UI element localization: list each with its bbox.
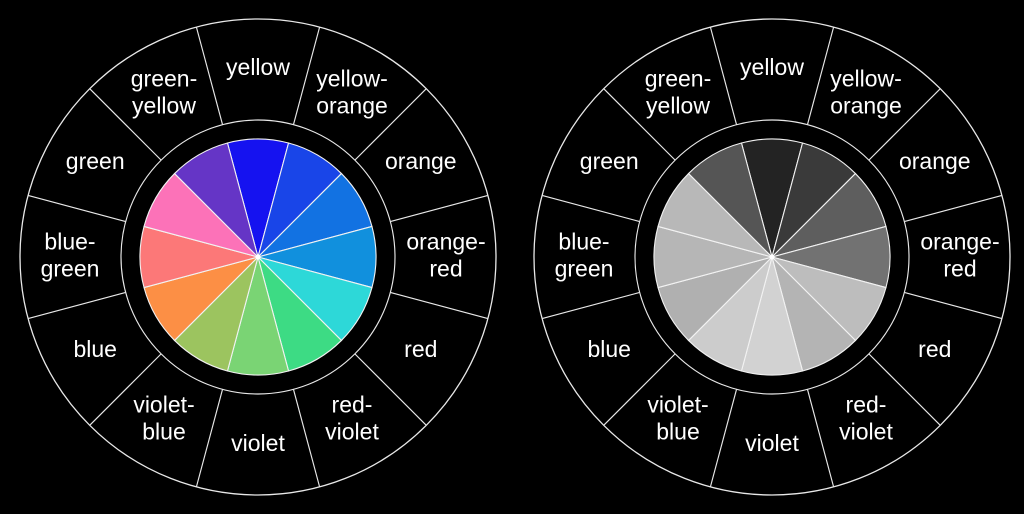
ring-label-red: red <box>918 336 951 362</box>
ring-divider <box>390 292 488 318</box>
ring-label-line: green- <box>131 66 197 92</box>
ring-divider <box>293 389 319 487</box>
ring-label-green-yellow: green-yellow <box>645 66 711 119</box>
ring-label-line: orange <box>830 93 902 119</box>
ring-label-line: blue <box>142 418 185 444</box>
ring-label-red-violet: red-violet <box>325 391 379 444</box>
ring-label-line: violet <box>745 430 799 456</box>
ring-divider <box>28 195 126 221</box>
ring-label-line: orange <box>316 93 388 119</box>
ring-label-blue-green: blue-green <box>41 229 100 282</box>
ring-divider <box>196 389 222 487</box>
ring-label-violet-blue: violet-blue <box>647 391 708 444</box>
ring-label-red: red <box>404 336 437 362</box>
ring-divider <box>807 389 833 487</box>
ring-divider <box>542 195 640 221</box>
ring-label-line: red <box>918 336 951 362</box>
ring-label-line: yellow <box>226 54 290 80</box>
ring-label-blue-green: blue-green <box>555 229 614 282</box>
ring-label-line: violet <box>325 418 379 444</box>
color-wheel-left: yellowyellow-orangeorangeorange-redredre… <box>0 0 516 514</box>
wheel-center-dot <box>770 255 775 260</box>
ring-label-line: yellow <box>132 93 196 119</box>
ring-label-line: yellow- <box>830 66 902 92</box>
ring-label-yellow: yellow <box>226 54 290 80</box>
ring-label-orange-red: orange-red <box>406 229 485 282</box>
ring-label-violet: violet <box>231 430 285 456</box>
ring-label-yellow-orange: yellow-orange <box>830 66 902 119</box>
ring-label-yellow-orange: yellow-orange <box>316 66 388 119</box>
ring-label-line: red- <box>332 391 373 417</box>
ring-label-orange-red: orange-red <box>920 229 999 282</box>
ring-label-line: orange- <box>406 229 485 255</box>
ring-divider <box>28 292 126 318</box>
ring-label-line: violet <box>839 418 893 444</box>
ring-label-line: blue <box>656 418 699 444</box>
ring-label-line: green <box>580 148 639 174</box>
ring-divider <box>710 389 736 487</box>
ring-label-green-yellow: green-yellow <box>131 66 197 119</box>
ring-label-violet-blue: violet-blue <box>133 391 194 444</box>
ring-divider <box>390 195 488 221</box>
ring-label-line: green <box>555 256 614 282</box>
ring-label-line: orange- <box>920 229 999 255</box>
ring-divider <box>904 292 1002 318</box>
ring-label-line: red <box>404 336 437 362</box>
ring-label-orange: orange <box>899 148 971 174</box>
ring-label-violet: violet <box>745 430 799 456</box>
color-wheel-right: yellowyellow-orangeorangeorange-redredre… <box>514 0 1024 514</box>
ring-label-line: green- <box>645 66 711 92</box>
ring-label-line: orange <box>899 148 971 174</box>
ring-label-line: green <box>66 148 125 174</box>
ring-label-line: violet <box>231 430 285 456</box>
ring-label-blue: blue <box>587 336 630 362</box>
ring-label-line: yellow <box>740 54 804 80</box>
wheel-center-dot <box>256 255 261 260</box>
ring-label-line: blue- <box>44 229 95 255</box>
ring-label-line: yellow- <box>316 66 388 92</box>
ring-label-line: red <box>429 256 462 282</box>
color-wheel-figure: yellowyellow-orangeorangeorange-redredre… <box>0 0 1024 514</box>
ring-label-blue: blue <box>73 336 116 362</box>
ring-label-line: green <box>41 256 100 282</box>
ring-divider <box>904 195 1002 221</box>
ring-divider <box>710 27 736 125</box>
ring-label-line: yellow <box>646 93 710 119</box>
ring-label-line: violet- <box>133 391 194 417</box>
ring-divider <box>196 27 222 125</box>
ring-label-line: blue- <box>558 229 609 255</box>
ring-label-green: green <box>580 148 639 174</box>
ring-label-line: blue <box>587 336 630 362</box>
ring-label-line: blue <box>73 336 116 362</box>
ring-label-line: red <box>943 256 976 282</box>
ring-label-red-violet: red-violet <box>839 391 893 444</box>
ring-label-orange: orange <box>385 148 457 174</box>
ring-label-green: green <box>66 148 125 174</box>
ring-label-line: red- <box>846 391 887 417</box>
ring-label-yellow: yellow <box>740 54 804 80</box>
ring-label-line: violet- <box>647 391 708 417</box>
ring-label-line: orange <box>385 148 457 174</box>
ring-divider <box>542 292 640 318</box>
